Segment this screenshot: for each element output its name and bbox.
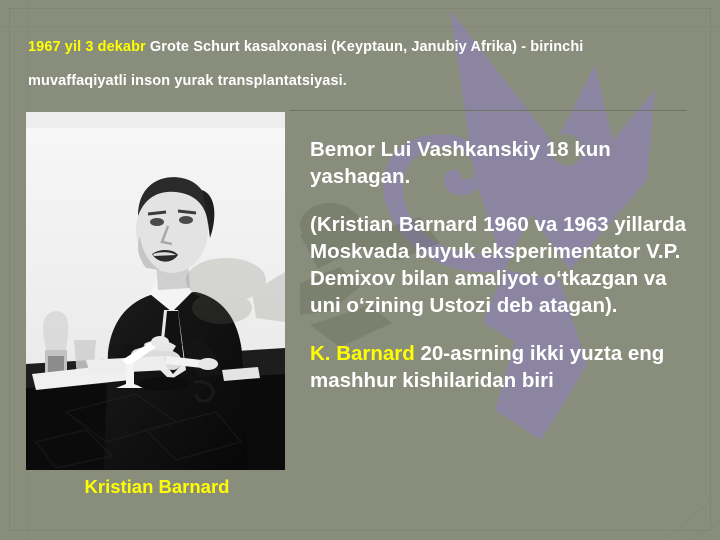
header-divider <box>290 110 687 111</box>
header-line2: muvaffaqiyatli inson yurak transplantats… <box>28 73 347 89</box>
slide-canvas: 1967 yil 3 dekabr Grote Schurt kasalxona… <box>0 0 720 540</box>
photo-caption: Kristian Barnard <box>26 476 288 498</box>
barnard-photo <box>26 112 285 470</box>
slide-body-text: Bemor Lui Vashkanskiy 18 kun yashagan. (… <box>310 136 688 394</box>
slide-header: 1967 yil 3 dekabr Grote Schurt kasalxona… <box>28 30 688 98</box>
corner-diagonal-line <box>625 517 720 540</box>
body-paragraph-3-accent: K. Barnard <box>310 342 415 365</box>
corner-diagonal-line-secondary <box>666 499 713 538</box>
body-paragraph-2: (Kristian Barnard 1960 va 1963 yillarda … <box>310 211 688 320</box>
header-date-accent: 1967 yil 3 dekabr <box>28 39 146 55</box>
header-line1-rest: Grote Schurt kasalxonasi (Keyptaun, Janu… <box>146 39 584 55</box>
body-paragraph-3: K. Barnard 20-asrning ikki yuzta eng mas… <box>310 340 688 395</box>
slide-border-horizontal-line <box>0 26 720 27</box>
body-paragraph-1: Bemor Lui Vashkanskiy 18 kun yashagan. <box>310 136 688 191</box>
